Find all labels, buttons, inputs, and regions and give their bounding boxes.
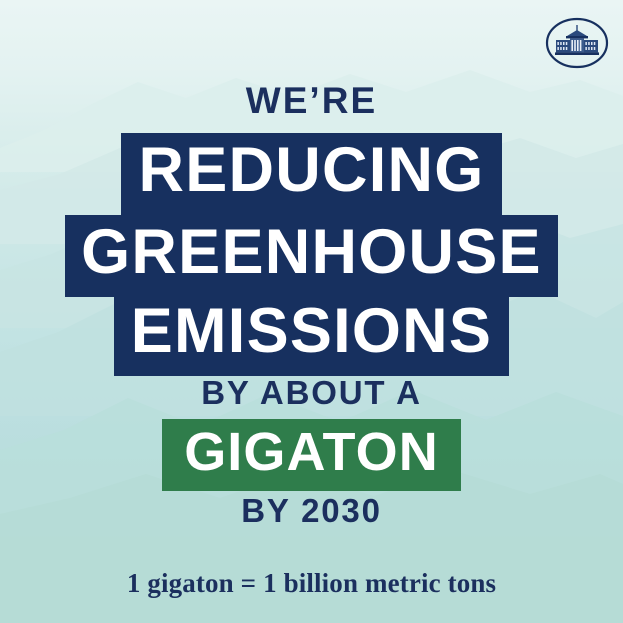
headline-text-reducing: REDUCING (121, 133, 501, 215)
headline-text-greenhouse: GREENHOUSE (65, 215, 558, 297)
white-house-seal-icon (544, 10, 610, 76)
headline-line-by-about-a: BY ABOUT A (0, 374, 623, 412)
headline-line-emissions: EMISSIONS (0, 294, 623, 376)
headline-text-gigaton: GIGATON (162, 419, 461, 491)
headline-text-emissions: EMISSIONS (114, 294, 509, 376)
footnote-text: 1 gigaton = 1 billion metric tons (0, 568, 623, 599)
headline-text-by-about-a: BY ABOUT A (201, 374, 421, 411)
headline-text-by-2030: BY 2030 (241, 492, 382, 529)
headline-line-were: WE’RE (0, 80, 623, 122)
headline-line-greenhouse: GREENHOUSE (0, 215, 623, 297)
headline-line-by-2030: BY 2030 (0, 492, 623, 530)
headline-text-were: WE’RE (246, 80, 377, 121)
poster-canvas: WE’RE REDUCING GREENHOUSE EMISSIONS BY A… (0, 0, 623, 623)
headline-line-reducing: REDUCING (0, 133, 623, 215)
headline-line-gigaton: GIGATON (0, 419, 623, 491)
